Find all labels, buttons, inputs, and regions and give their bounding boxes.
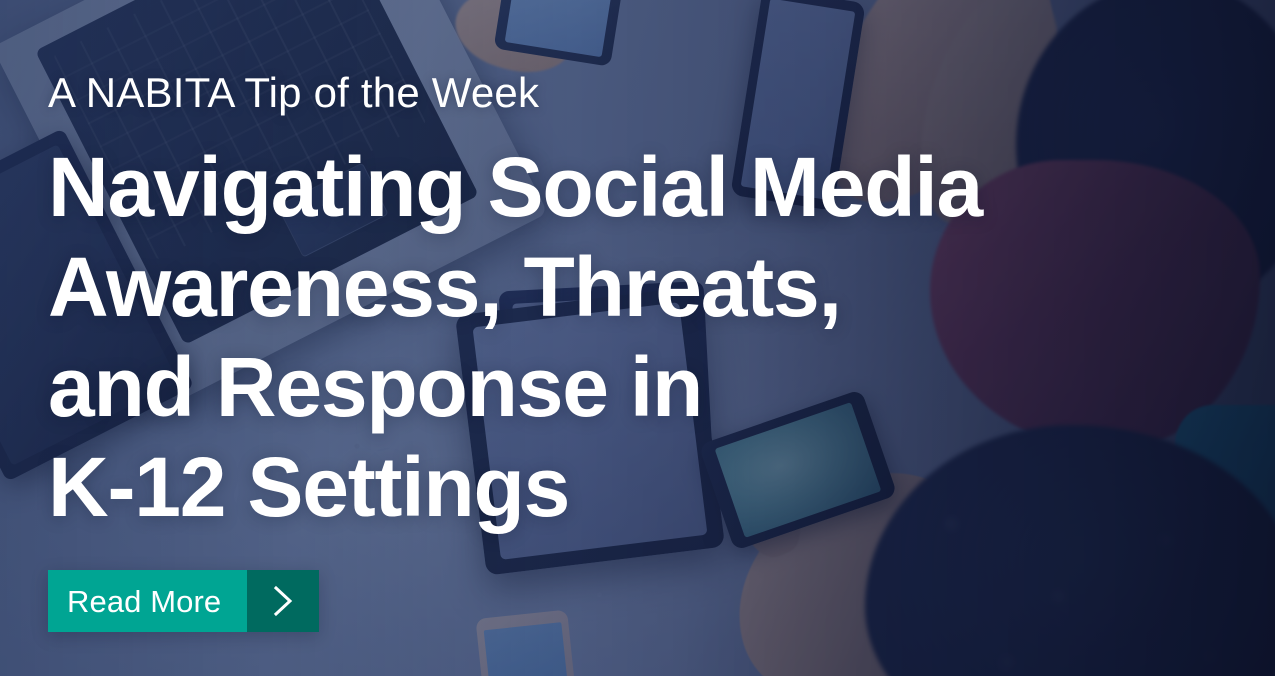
- headline-line-1: Navigating Social Media: [48, 137, 1228, 237]
- chevron-right-icon: [247, 570, 319, 632]
- promo-banner: A NABITA Tip of the Week Navigating Soci…: [0, 0, 1275, 676]
- read-more-label: Read More: [48, 570, 247, 632]
- banner-content: A NABITA Tip of the Week Navigating Soci…: [48, 0, 1228, 676]
- headline-line-4: K-12 Settings: [48, 437, 1228, 537]
- page-title: Navigating Social Media Awareness, Threa…: [48, 137, 1228, 537]
- read-more-button[interactable]: Read More: [48, 570, 319, 632]
- headline-line-3: and Response in: [48, 337, 1228, 437]
- eyebrow-text: A NABITA Tip of the Week: [48, 70, 539, 116]
- headline-line-2: Awareness, Threats,: [48, 237, 1228, 337]
